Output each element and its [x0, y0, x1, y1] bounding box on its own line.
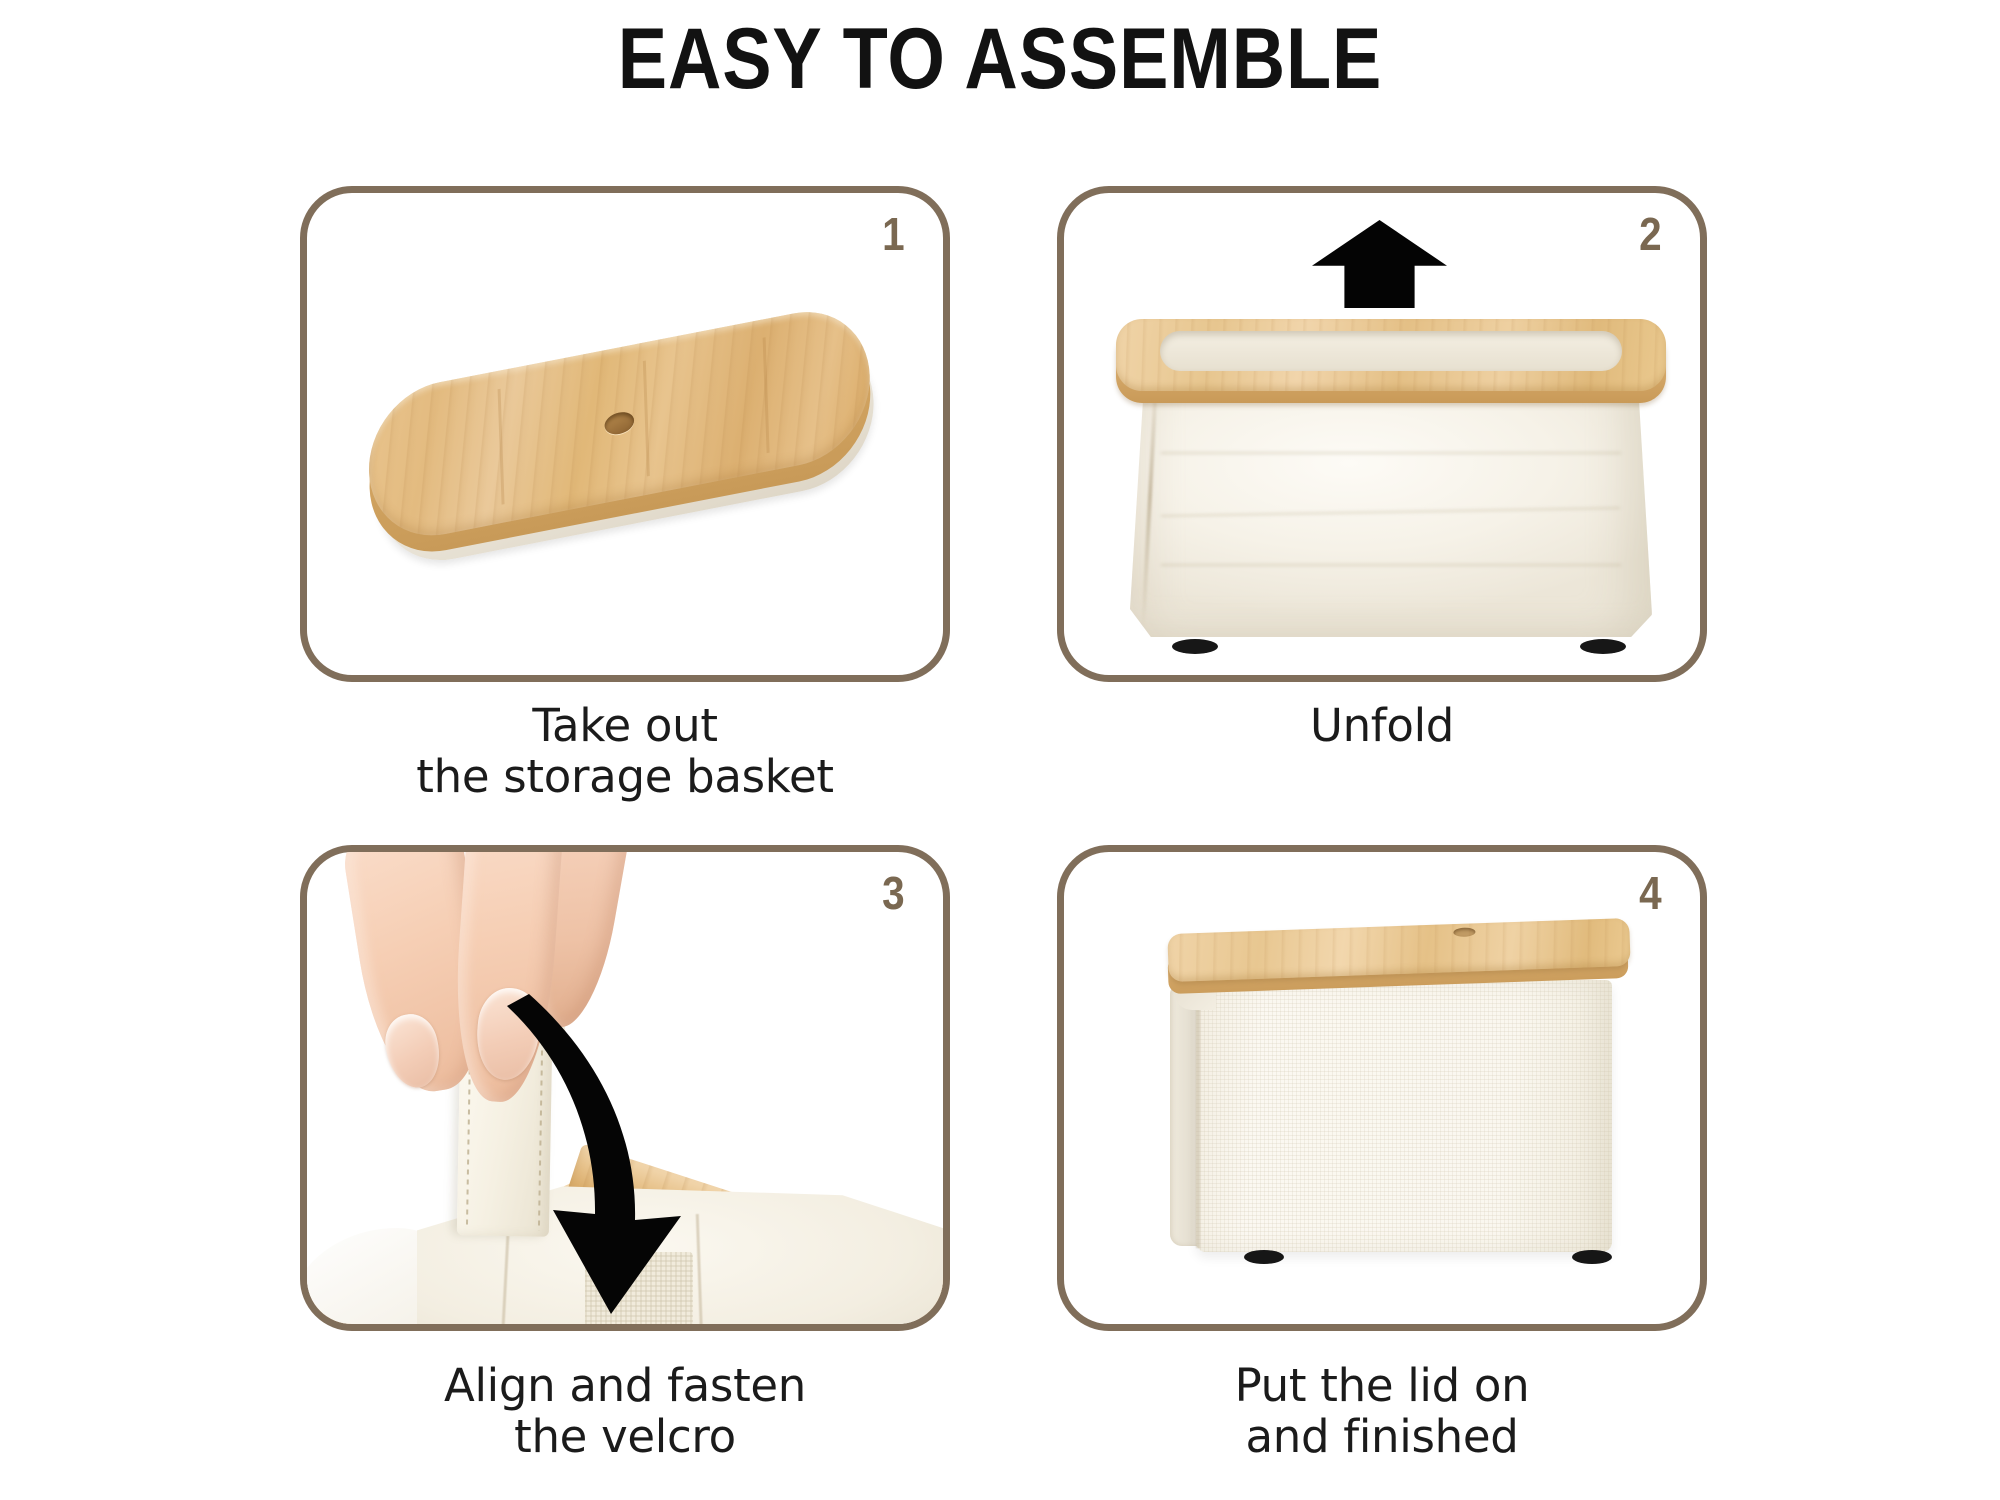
- basket-foot: [1572, 1250, 1612, 1264]
- up-arrow-icon: [1312, 220, 1447, 308]
- step-caption-4: Put the lid on and finished: [1057, 1360, 1707, 1463]
- step-3-illustration: [307, 852, 943, 1324]
- curved-down-arrow-icon: [495, 988, 715, 1318]
- fabric-fold-line: [1161, 452, 1620, 454]
- fabric-fold-line: [1161, 507, 1620, 517]
- basket-side-edge: [1196, 982, 1200, 1248]
- step-caption-3: Align and fasten the velcro: [300, 1360, 950, 1463]
- basket-foot: [1244, 1250, 1284, 1264]
- assembled-basket-graphic: [1148, 912, 1638, 1272]
- step-4-illustration: [1064, 852, 1700, 1324]
- step-1-illustration: [307, 193, 943, 675]
- fabric-fold-line: [1161, 564, 1620, 566]
- assembly-instructions-page: EASY TO ASSEMBLE: [0, 0, 2000, 1500]
- step-cell-4: 4: [1057, 845, 1707, 1331]
- step-caption-1: Take out the storage basket: [300, 700, 950, 803]
- step-number-badge-2: 2: [1639, 211, 1662, 257]
- basket-foot: [1172, 639, 1218, 654]
- open-basket-graphic: [1116, 299, 1666, 649]
- step-panel-2[interactable]: 2: [1057, 186, 1707, 682]
- bamboo-rim-top: [1116, 319, 1666, 391]
- basket-opening: [1160, 331, 1622, 371]
- step-cell-1: 1: [300, 186, 950, 682]
- steps-grid: 1 Take out the storage basket: [0, 0, 2000, 1500]
- step-number-badge-1: 1: [882, 211, 905, 257]
- step-number-badge-3: 3: [882, 870, 905, 916]
- step-panel-4[interactable]: 4: [1057, 845, 1707, 1331]
- step-panel-3[interactable]: 3: [300, 845, 950, 1331]
- step-cell-2: 2: [1057, 186, 1707, 682]
- step-caption-2: Unfold: [1057, 700, 1707, 751]
- bamboo-lid-graphic: [366, 293, 884, 595]
- step-number-badge-4: 4: [1639, 870, 1662, 916]
- basket-foot: [1580, 639, 1626, 654]
- step-cell-3: 3: [300, 845, 950, 1331]
- basket-canvas-body: [1196, 980, 1612, 1252]
- canvas-weave-texture: [1196, 980, 1612, 1252]
- step-panel-1[interactable]: 1: [300, 186, 950, 682]
- step-2-illustration: [1064, 193, 1700, 675]
